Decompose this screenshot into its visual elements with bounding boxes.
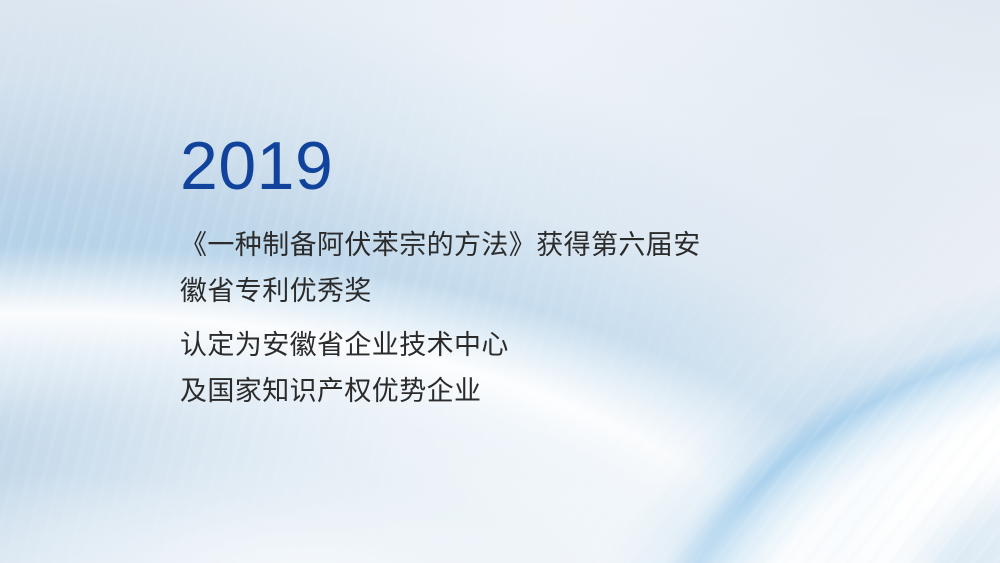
- line-group-spacer: [180, 314, 820, 322]
- achievement-line-4: 及国家知识产权优势企业: [180, 368, 820, 414]
- achievement-line-3: 认定为安徽省企业技术中心: [180, 322, 820, 368]
- year-heading: 2019: [180, 132, 820, 200]
- achievement-line-2: 徽省专利优秀奖: [180, 268, 820, 314]
- achievement-text: 《一种制备阿伏苯宗的方法》获得第六届安 徽省专利优秀奖 认定为安徽省企业技术中心…: [180, 222, 820, 414]
- slide-text-block: 2019 《一种制备阿伏苯宗的方法》获得第六届安 徽省专利优秀奖 认定为安徽省企…: [180, 132, 820, 414]
- achievement-line-1: 《一种制备阿伏苯宗的方法》获得第六届安: [180, 222, 820, 268]
- slide-canvas: 2019 《一种制备阿伏苯宗的方法》获得第六届安 徽省专利优秀奖 认定为安徽省企…: [0, 0, 1000, 563]
